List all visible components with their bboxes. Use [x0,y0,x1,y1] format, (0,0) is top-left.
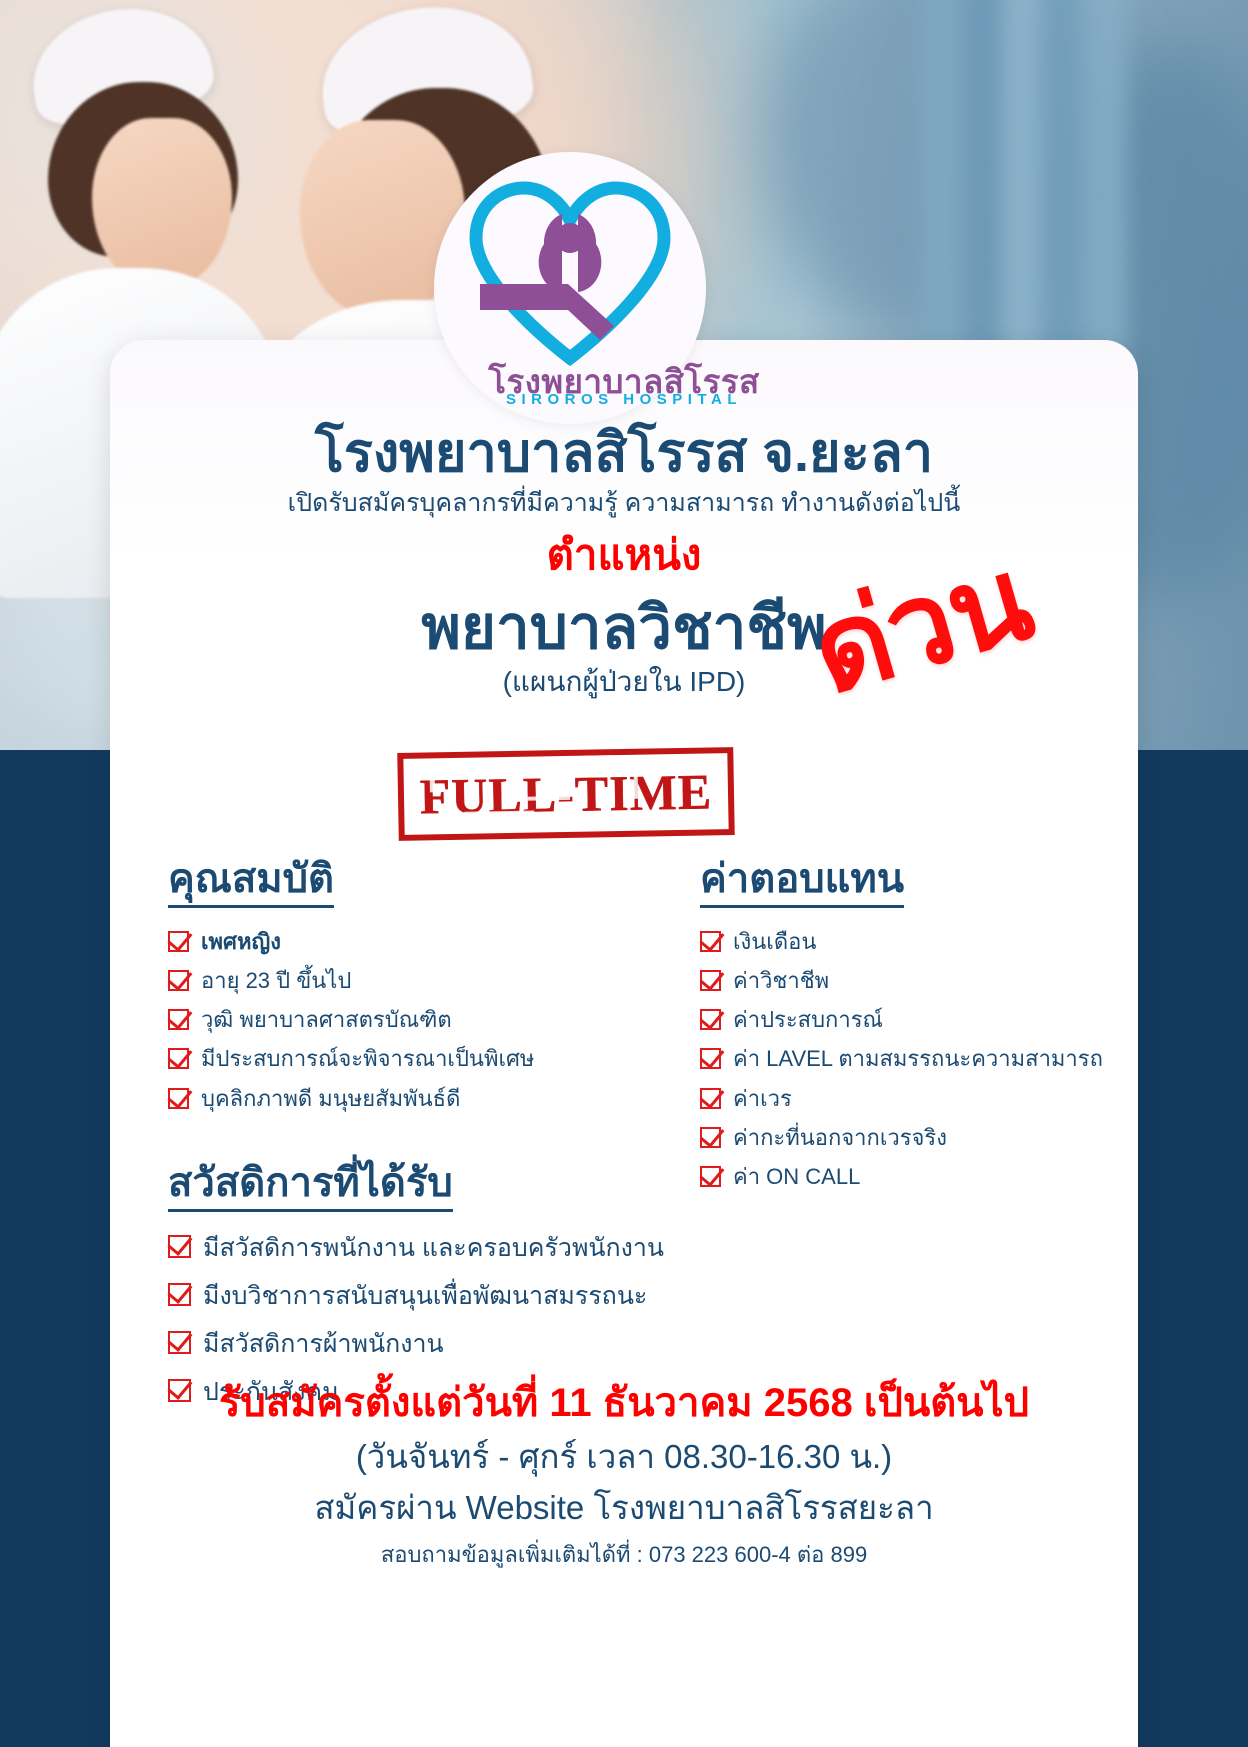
list-item: มีประสบการณ์จะพิจารณาเป็นพิเศษ [168,1045,688,1073]
checkbox-checked-icon [168,970,189,991]
stamp-scratch [634,769,639,799]
checkbox-checked-icon [700,1009,721,1030]
list-item: ค่าวิชาชีพ [700,967,1170,995]
header-block: โรงพยาบาลสิโรรส จ.ยะลา เปิดรับสมัครบุคลา… [0,424,1248,698]
list-item: มีสวัสดิการพนักงาน และครอบครัวพนักงาน [168,1232,688,1264]
checkbox-checked-icon [700,931,721,952]
full-time-stamp-label: FULL-TIME [419,762,712,825]
contact-info: สอบถามข้อมูลเพิ่มเติมได้ที่ : 073 223 60… [0,1541,1248,1569]
qualifications-heading: คุณสมบัติ [168,855,334,908]
checkbox-checked-icon [700,1088,721,1109]
checkbox-checked-icon [700,1127,721,1148]
checkbox-checked-icon [168,1088,189,1109]
list-item-label: ค่า ON CALL [733,1163,1170,1191]
list-item-label: มีสวัสดิการผ้าพนักงาน [203,1328,688,1360]
stamp-scratch [429,766,434,792]
job-department: (แผนกผู้ป่วยใน IPD) [0,665,1248,699]
checkbox-checked-icon [168,1283,191,1306]
footer-block: รับสมัครตั้งแต่วันที่ 11 ธันวาคม 2568 เป… [0,1378,1248,1568]
nurse-face [92,118,232,286]
list-item-label: ค่ากะที่นอกจากเวรจริง [733,1124,1170,1152]
list-item: อายุ 23 ปี ขึ้นไป [168,967,688,995]
qualifications-list: เพศหญิง อายุ 23 ปี ขึ้นไป วุฒิ พยาบาลศาส… [168,928,688,1113]
benefits-section: สวัสดิการที่ได้รับ มีสวัสดิการพนักงาน แล… [168,1159,688,1408]
application-period: รับสมัครตั้งแต่วันที่ 11 ธันวาคม 2568 เป… [0,1378,1248,1428]
compensation-heading: ค่าตอบแทน [700,855,904,908]
checkbox-checked-icon [700,1048,721,1069]
list-item-label: เพศหญิง [201,928,688,956]
job-title: พยาบาลวิชาชีพ [0,595,1248,661]
list-item: ค่า ON CALL [700,1163,1170,1191]
hospital-logo-icon [462,176,678,366]
list-item: ค่ากะที่นอกจากเวรจริง [700,1124,1170,1152]
right-column: ค่าตอบแทน เงินเดือน ค่าวิชาชีพ ค่าประสบก… [700,855,1170,1202]
checkbox-checked-icon [168,1235,191,1258]
list-item-label: มีงบวิชาการสนับสนุนเพื่อพัฒนาสมรรถนะ [203,1280,688,1312]
list-item: เพศหญิง [168,928,688,956]
list-item: เงินเดือน [700,928,1170,956]
compensation-list: เงินเดือน ค่าวิชาชีพ ค่าประสบการณ์ ค่า L… [700,928,1170,1191]
list-item-label: วุฒิ พยาบาลศาสตรบัณฑิต [201,1006,688,1034]
application-channel: สมัครผ่าน Website โรงพยาบาลสิโรรสยะลา [0,1487,1248,1528]
checkbox-checked-icon [168,1331,191,1354]
stamp-scratch [524,796,570,801]
checkbox-checked-icon [700,1166,721,1187]
left-column: คุณสมบัติ เพศหญิง อายุ 23 ปี ขึ้นไป วุฒิ… [168,855,688,1424]
full-time-stamp: FULL-TIME [397,747,734,841]
list-item-label: มีประสบการณ์จะพิจารณาเป็นพิเศษ [201,1045,688,1073]
list-item: มีงบวิชาการสนับสนุนเพื่อพัฒนาสมรรถนะ [168,1280,688,1312]
checkbox-checked-icon [168,931,189,952]
benefits-heading: สวัสดิการที่ได้รับ [168,1159,453,1212]
list-item: ค่าประสบการณ์ [700,1006,1170,1034]
list-item-label: ค่าเวร [733,1085,1170,1113]
list-item-label: บุคลิกภาพดี มนุษยสัมพันธ์ดี [201,1085,688,1113]
stamp-scratch [583,755,613,760]
list-item: มีสวัสดิการผ้าพนักงาน [168,1328,688,1360]
list-item-label: ค่าวิชาชีพ [733,967,1170,995]
checkbox-checked-icon [168,1009,189,1030]
list-item-label: เงินเดือน [733,928,1170,956]
list-item-label: ค่า LAVEL ตามสมรรถนะความสามารถ [733,1045,1170,1073]
header-subtitle: เปิดรับสมัครบุคลากรที่มีความรู้ ความสามา… [0,488,1248,518]
list-item: วุฒิ พยาบาลศาสตรบัณฑิต [168,1006,688,1034]
position-label: ตำแหน่ง [0,532,1248,578]
list-item-label: มีสวัสดิการพนักงาน และครอบครัวพนักงาน [203,1232,688,1264]
list-item-label: อายุ 23 ปี ขึ้นไป [201,967,688,995]
checkbox-checked-icon [700,970,721,991]
application-hours: (วันจันทร์ - ศุกร์ เวลา 08.30-16.30 น.) [0,1436,1248,1477]
checkbox-checked-icon [168,1048,189,1069]
logo-english-name: SIROROS HOSPITAL [0,391,1248,408]
page-title: โรงพยาบาลสิโรรส จ.ยะลา [0,424,1248,482]
list-item: บุคลิกภาพดี มนุษยสัมพันธ์ดี [168,1085,688,1113]
list-item: ค่าเวร [700,1085,1170,1113]
list-item: ค่า LAVEL ตามสมรรถนะความสามารถ [700,1045,1170,1073]
list-item-label: ค่าประสบการณ์ [733,1006,1170,1034]
